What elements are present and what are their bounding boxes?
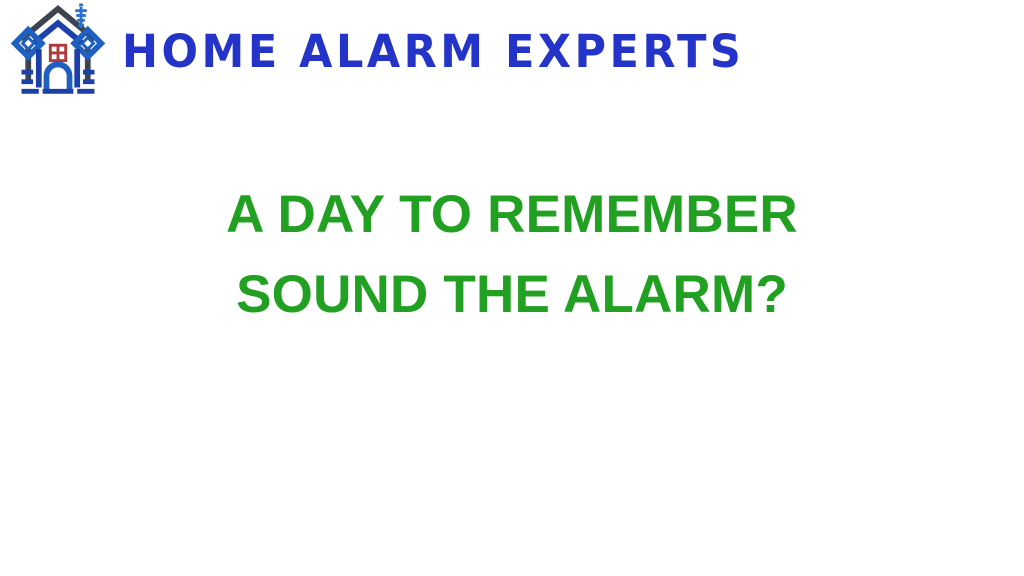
page-canvas: HOME ALARM EXPERTS A DAY TO REMEMBER SOU… [0,0,1024,576]
brand-header[interactable]: HOME ALARM EXPERTS [10,2,744,100]
house-alarm-logo-icon [10,3,106,99]
headline-line-1: A DAY TO REMEMBER [0,175,1024,255]
headline-line-2: SOUND THE ALARM? [0,255,1024,335]
headline-block: A DAY TO REMEMBER SOUND THE ALARM? [0,175,1024,335]
brand-wordmark: HOME ALARM EXPERTS [122,29,744,75]
